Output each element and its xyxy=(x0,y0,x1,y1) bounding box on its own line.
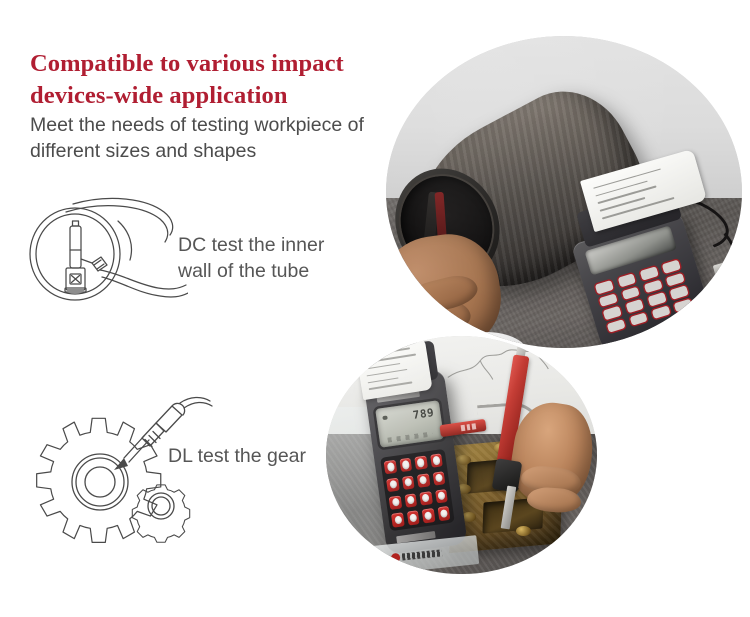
page-title: Compatible to various impact devices-wid… xyxy=(30,48,370,113)
keypad-button[interactable] xyxy=(652,305,671,319)
keypad-button[interactable] xyxy=(389,495,402,510)
device-display-value: 789 xyxy=(412,406,435,422)
keypad-button[interactable] xyxy=(599,293,618,307)
keypad-button[interactable] xyxy=(391,513,404,528)
keypad-button[interactable] xyxy=(417,473,430,488)
keypad-button[interactable] xyxy=(640,267,659,281)
keypad-button[interactable] xyxy=(432,471,445,486)
photo-gear-test: 789 xyxy=(326,336,597,574)
device-keypad xyxy=(380,449,455,531)
page-subtitle: Meet the needs of testing workpiece of d… xyxy=(30,113,380,165)
keypad-button[interactable] xyxy=(630,312,649,326)
keypad-button[interactable] xyxy=(674,299,693,313)
photo-tube-test xyxy=(386,36,742,348)
keypad-button[interactable] xyxy=(406,511,419,526)
screen-secondary-row xyxy=(387,431,433,442)
keypad-button[interactable] xyxy=(401,475,414,490)
keypad-button[interactable] xyxy=(399,458,412,473)
keypad-button[interactable] xyxy=(644,280,663,294)
device-screen: 789 xyxy=(375,400,443,447)
keypad-button[interactable] xyxy=(648,292,667,306)
logo-dot xyxy=(391,553,401,563)
promo-banner: Compatible to various impact devices-wid… xyxy=(0,0,750,617)
keypad-button[interactable] xyxy=(670,286,689,300)
feature-caption-dc: DC test the inner wall of the tube xyxy=(178,232,363,285)
screen-indicator xyxy=(382,416,387,420)
gears-probe-illustration xyxy=(28,392,213,552)
keypad-button[interactable] xyxy=(607,319,626,333)
keypad-button[interactable] xyxy=(626,299,645,313)
keypad-button[interactable] xyxy=(595,280,614,294)
keypad-button[interactable] xyxy=(437,506,450,521)
tube-probe-illustration xyxy=(18,188,188,328)
keypad-button[interactable] xyxy=(404,493,417,508)
keypad-button[interactable] xyxy=(386,477,399,492)
keypad-button[interactable] xyxy=(622,286,641,300)
power-button[interactable] xyxy=(430,453,443,468)
keypad-button[interactable] xyxy=(435,489,448,504)
keypad-button[interactable] xyxy=(662,260,681,274)
keypad-button[interactable] xyxy=(414,455,427,470)
keypad-button[interactable] xyxy=(384,460,397,475)
keypad-button[interactable] xyxy=(666,273,685,287)
keypad-button[interactable] xyxy=(618,273,637,287)
keypad-button[interactable] xyxy=(422,508,435,523)
keypad-button[interactable] xyxy=(419,491,432,506)
keypad-button[interactable] xyxy=(603,306,622,320)
bolt-hole xyxy=(456,455,471,465)
